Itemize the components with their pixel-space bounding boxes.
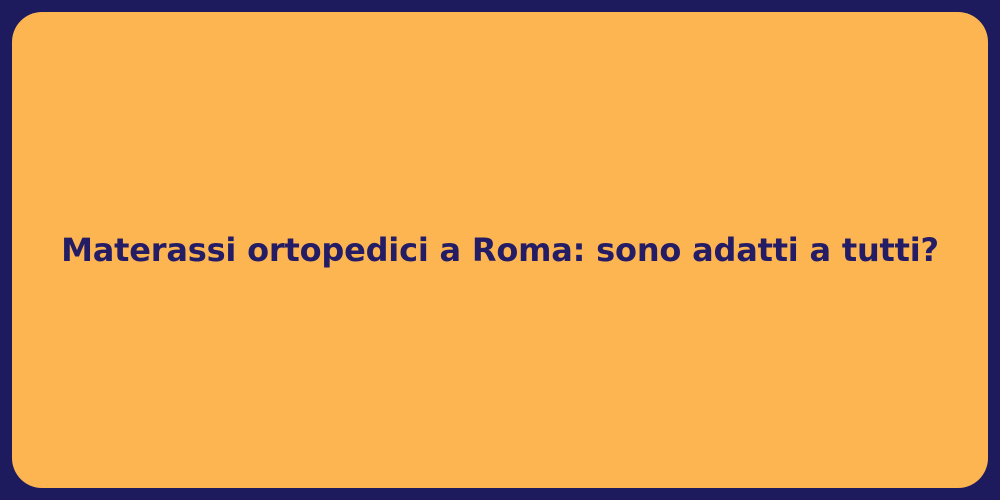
page-title: Materassi ortopedici a Roma: sono adatti… <box>52 230 948 270</box>
banner-card: Materassi ortopedici a Roma: sono adatti… <box>12 12 988 488</box>
banner-frame: Materassi ortopedici a Roma: sono adatti… <box>0 0 1000 500</box>
headline-container: Materassi ortopedici a Roma: sono adatti… <box>12 230 988 270</box>
